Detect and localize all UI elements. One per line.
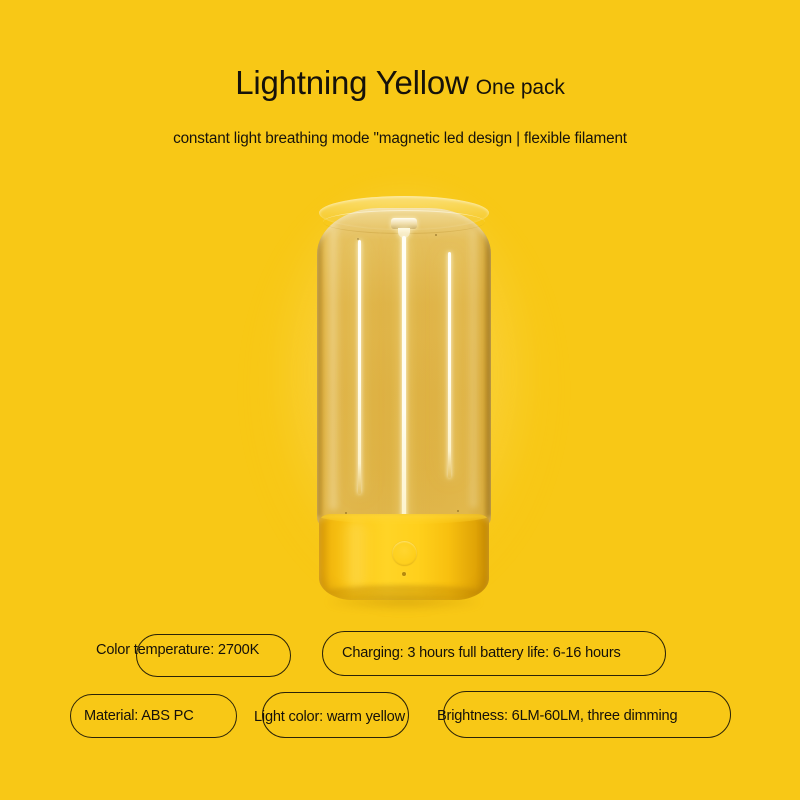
glass-highlight-left bbox=[326, 224, 341, 510]
spec-label-color-temperature: Color temperature: 2700K bbox=[96, 643, 259, 658]
led-filament-left bbox=[358, 240, 361, 494]
glass-highlight-right bbox=[467, 228, 480, 508]
spec-label-light-color: Light color: warm yellow bbox=[254, 710, 405, 725]
led-indicator-icon bbox=[402, 572, 406, 576]
glass-edge-left bbox=[317, 216, 324, 516]
pack-quantity-label: One pack bbox=[476, 76, 565, 99]
glass-speck bbox=[457, 510, 459, 512]
page-title: Lightning Yellow bbox=[235, 64, 469, 101]
product-photo bbox=[310, 196, 498, 616]
base-top-edge bbox=[319, 514, 489, 524]
product-image-canvas: Lightning YellowOne pack constant light … bbox=[0, 0, 800, 800]
spec-label-material: Material: ABS PC bbox=[84, 709, 194, 724]
contact-shadow bbox=[328, 594, 480, 610]
led-filament-center bbox=[402, 236, 406, 556]
lamp-base bbox=[319, 514, 489, 600]
glass-speck bbox=[435, 234, 437, 236]
led-filament-right bbox=[448, 252, 451, 478]
spec-label-brightness: Brightness: 6LM-60LM, three dimming bbox=[437, 709, 677, 724]
spec-label-charging: Charging: 3 hours full battery life: 6-1… bbox=[342, 646, 621, 661]
title-row: Lightning YellowOne pack bbox=[0, 64, 800, 102]
power-button[interactable] bbox=[392, 541, 417, 566]
base-highlight bbox=[341, 522, 371, 588]
product-subtitle: constant light breathing mode "magnetic … bbox=[0, 130, 800, 148]
glass-edge-right bbox=[483, 216, 491, 516]
